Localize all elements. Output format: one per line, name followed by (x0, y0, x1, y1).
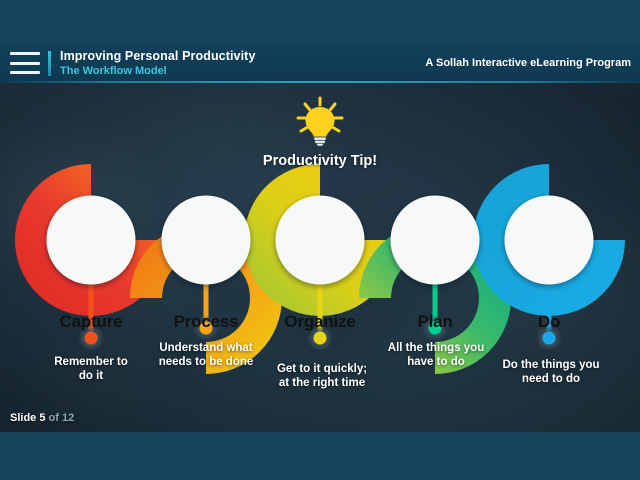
node-label-organize: Organize (284, 312, 355, 332)
hamburger-bar (10, 62, 40, 65)
caption-line: Understand what (159, 341, 254, 355)
node-label-do: Do (538, 312, 560, 332)
slide-current: Slide 5 (10, 412, 45, 424)
productivity-tip-label: Productivity Tip! (0, 153, 640, 169)
circle-organize[interactable] (276, 196, 365, 285)
slide-counter: Slide 5 of 12 (10, 412, 74, 424)
header-divider (48, 51, 51, 76)
caption-line: have to do (388, 355, 484, 369)
course-title: Improving Personal Productivity (60, 50, 256, 63)
caption-do: Do the things you need to do (502, 358, 599, 386)
title-block: Improving Personal Productivity The Work… (60, 50, 256, 78)
program-credit: A Sollah Interactive eLearning Program (425, 57, 631, 69)
hamburger-bar (10, 71, 40, 74)
hamburger-menu-icon[interactable] (10, 52, 40, 74)
letterbox-bottom (0, 432, 640, 480)
circle-do[interactable] (505, 196, 594, 285)
caption-line: at the right time (277, 376, 367, 390)
caption-line: need to do (502, 372, 599, 386)
slide-canvas: Improving Personal Productivity The Work… (0, 0, 640, 480)
circle-capture[interactable] (47, 196, 136, 285)
course-subtitle: The Workflow Model (60, 66, 256, 78)
dot-do[interactable] (543, 332, 556, 345)
circle-process[interactable] (162, 196, 251, 285)
node-label-plan: Plan (417, 312, 452, 332)
lightbulb-icon (293, 96, 347, 146)
header-accent-rule (0, 81, 640, 83)
caption-plan: All the things you have to do (388, 341, 484, 369)
productivity-tip-block: Productivity Tip! (0, 96, 640, 169)
caption-line: All the things you (388, 341, 484, 355)
caption-line: Do the things you (502, 358, 599, 372)
caption-process: Understand what needs to be done (159, 341, 254, 369)
slide-total: of 12 (49, 412, 75, 424)
dot-organize[interactable] (314, 332, 327, 345)
hamburger-bar (10, 52, 40, 55)
node-label-capture: Capture (60, 312, 123, 332)
node-label-process: Process (174, 312, 239, 332)
caption-capture: Remember to do it (54, 355, 128, 383)
caption-line: do it (54, 369, 128, 383)
dot-capture[interactable] (85, 332, 98, 345)
caption-line: Get to it quickly; (277, 362, 367, 376)
caption-line: needs to be done (159, 355, 254, 369)
caption-organize: Get to it quickly; at the right time (277, 362, 367, 390)
caption-line: Remember to (54, 355, 128, 369)
letterbox-top (0, 0, 640, 44)
circle-plan[interactable] (391, 196, 480, 285)
